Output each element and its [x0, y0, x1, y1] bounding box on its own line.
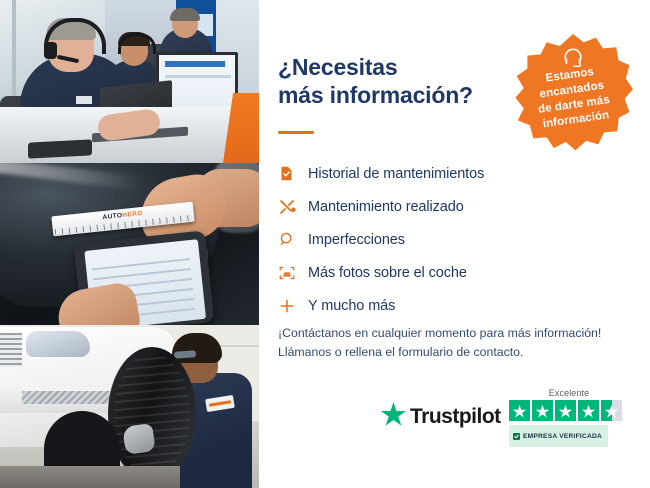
car-scan-icon [278, 264, 308, 282]
agent-name-badge [76, 96, 92, 104]
feature-list: Historial de mantenimientos Mantenimient… [278, 157, 618, 322]
car-wheel-tyre [108, 347, 196, 481]
contact-line-2: Llámanos o rellena el formulario de cont… [278, 343, 633, 362]
agent-background-hair [170, 8, 200, 21]
headset-icon [118, 33, 156, 54]
heading-line-1: ¿Necesitas [278, 53, 508, 81]
rating-label: Excelente [509, 388, 629, 398]
feature-item-maintenance-history[interactable]: Historial de mantenimientos [278, 157, 618, 190]
feature-label: Y mucho más [308, 298, 395, 314]
promo-card: AUTOHERO [0, 0, 650, 488]
trustpilot-wordmark: Trustpilot [410, 405, 501, 429]
star-half-5 [601, 400, 622, 421]
mechanic-hair [172, 333, 222, 363]
photo-call-center-agents [0, 0, 259, 163]
car-grille [0, 333, 22, 367]
feature-item-more-photos[interactable]: Más fotos sobre el coche [278, 256, 618, 289]
photo-column: AUTOHERO [0, 0, 259, 488]
heading-underline [278, 131, 314, 134]
monitor-content-rows [165, 75, 231, 78]
mechanic-glove [122, 423, 156, 455]
trustpilot-logo[interactable]: Trustpilot [381, 402, 501, 431]
ruler-brand-hero: HERO [122, 210, 143, 219]
starburst-badge: Estamos encantados de darte más informac… [503, 24, 643, 164]
feature-label: Historial de mantenimientos [308, 166, 484, 182]
feature-label: Mantenimiento realizado [308, 199, 464, 215]
contact-paragraph: ¡Contáctanos en cualquier momento para m… [278, 324, 633, 362]
car-lift-platform [0, 466, 180, 488]
tyre-tread [114, 353, 190, 475]
trustpilot-star-icon [381, 402, 406, 431]
ruler-brand-auto: AUTO [102, 212, 123, 221]
content-panel: ¿Necesitas más información? Estamos enca… [259, 0, 650, 488]
feature-item-more[interactable]: Y mucho más [278, 289, 618, 322]
plus-icon [278, 297, 308, 315]
verified-check-icon [513, 427, 520, 445]
headset-icon [562, 47, 584, 67]
trustpilot-rating[interactable]: Trustpilot Excelente [381, 388, 629, 446]
star-filled-3 [555, 400, 576, 421]
wrench-screwdriver-icon [278, 198, 308, 216]
trustpilot-score: Excelente [509, 388, 629, 447]
headset-earcup-icon [44, 42, 57, 59]
heading-line-2: más información? [278, 81, 508, 109]
document-check-icon [278, 165, 308, 182]
photo-wheel-inspection [0, 325, 259, 488]
star-filled-2 [532, 400, 553, 421]
feature-label: Imperfecciones [308, 232, 405, 248]
monitor-header-bar [165, 61, 225, 67]
star-rating [509, 400, 629, 421]
feature-item-imperfections[interactable]: Imperfecciones [278, 223, 618, 256]
star-filled-1 [509, 400, 530, 421]
star-filled-4 [578, 400, 599, 421]
contact-line-1: ¡Contáctanos en cualquier momento para m… [278, 324, 633, 343]
verified-business-badge: EMPRESA VERIFICADA [509, 425, 608, 447]
car-headlight [26, 331, 90, 357]
desk-tablet [28, 139, 92, 158]
magnifier-icon [278, 231, 308, 248]
body-highlight [0, 163, 140, 190]
verified-label: EMPRESA VERIFICADA [523, 433, 602, 440]
page-title: ¿Necesitas más información? [278, 53, 508, 110]
photo-car-inspection: AUTOHERO [0, 163, 259, 325]
feature-item-maintenance-done[interactable]: Mantenimiento realizado [278, 190, 618, 223]
ruler-brand-label: AUTOHERO [102, 210, 143, 221]
feature-label: Más fotos sobre el coche [308, 265, 467, 281]
